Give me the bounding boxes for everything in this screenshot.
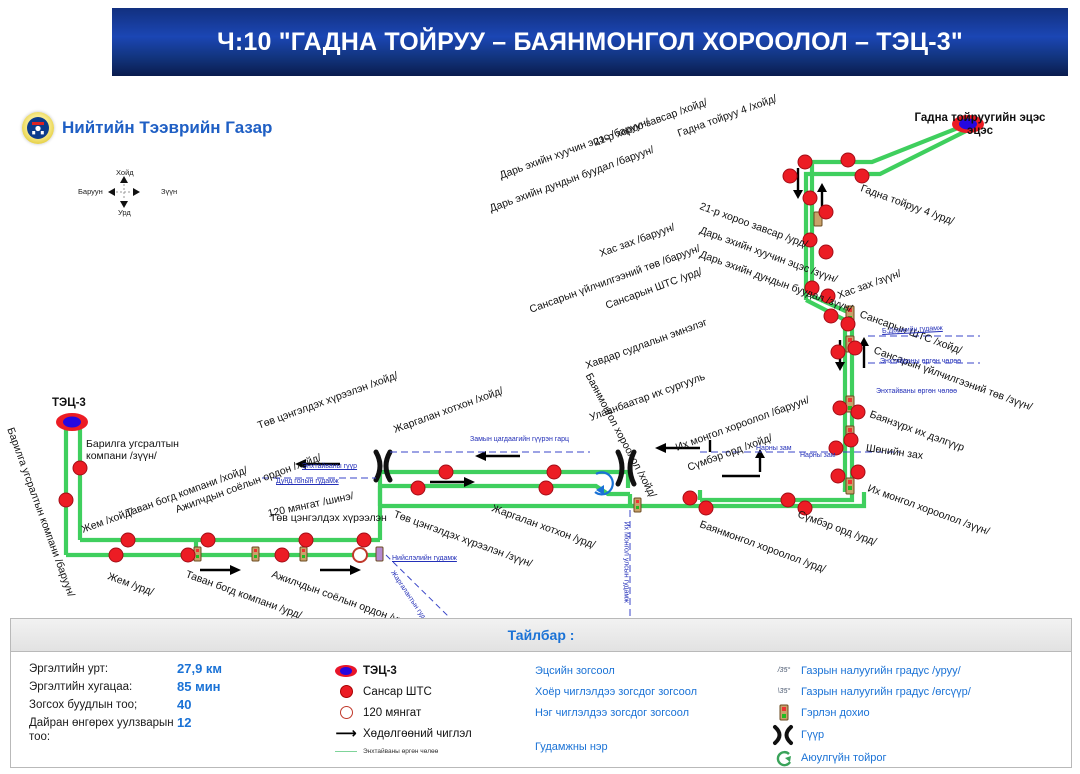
legend-item-label: Эцсийн зогсоол bbox=[535, 665, 615, 677]
slope-up-icon: \35° bbox=[767, 688, 801, 695]
legend-item: 120 мянгат bbox=[329, 702, 472, 723]
map-terminal-label-tec3: ТЭЦ-3 bbox=[52, 397, 86, 409]
legend-item-label: Гүүр bbox=[801, 729, 824, 741]
direction-arrow-icon: ⟶ bbox=[329, 728, 363, 739]
stat-value: 85 мин bbox=[177, 680, 221, 694]
legend-item-label: Гэрлэн дохио bbox=[801, 707, 870, 719]
legend-item-label: Гудамжны нэр bbox=[535, 741, 608, 753]
legend-item-label: ТЭЦ-3 bbox=[363, 665, 397, 677]
stat-label: Эргэлтийн урт: bbox=[29, 662, 177, 676]
legend-item: /35° Газрын налуугийн градус /уруу/ bbox=[767, 660, 971, 681]
map-terminal-label-gadna: Гадна тойруугийн эцэс эцэс bbox=[900, 112, 1060, 138]
legend-item-label: Сансар ШТС bbox=[363, 686, 432, 698]
legend-title: Тайлбар : bbox=[508, 627, 575, 643]
bridge-icon bbox=[767, 724, 801, 746]
legend-item-label: Газрын налуугийн градус /өгсүүр/ bbox=[801, 686, 971, 698]
terminal-marker-icon bbox=[329, 665, 363, 677]
legend-item: Гудамжны нэр bbox=[535, 723, 697, 753]
legend-symbol-column: ТЭЦ-3 Сансар ШТС 120 мянгат ⟶ Хөдөлгөөни… bbox=[329, 660, 472, 758]
legend-item: Энхтайваны өргөн чөлөө bbox=[329, 744, 472, 758]
legend-item-label: Газрын налуугийн градус /уруу/ bbox=[801, 665, 961, 677]
legend-item-label: Хоёр чиглэлдээ зогсдог зогсоол bbox=[535, 686, 697, 698]
slope-up-badge: \35° bbox=[778, 688, 791, 695]
page-title: Ч:10 "ГАДНА ТОЙРУУ – БАЯНМОНГОЛ ХОРООЛОЛ… bbox=[217, 28, 963, 57]
legend-item: ⟶ Хөдөлгөөний чиглэл bbox=[329, 723, 472, 744]
roundabout-icon bbox=[595, 472, 613, 495]
legend-panel: Тайлбар : Эргэлтийн урт: 27,9 км Эргэлти… bbox=[10, 618, 1072, 768]
stat-label: Зогсох буудлын тоо; bbox=[29, 698, 177, 712]
legend-body: Эргэлтийн урт: 27,9 км Эргэлтийн хугацаа… bbox=[11, 652, 1071, 766]
stat-value: 40 bbox=[177, 698, 191, 712]
legend-item: Аюулгүйн тойрог bbox=[767, 747, 971, 768]
page-title-banner: Ч:10 "ГАДНА ТОЙРУУ – БАЯНМОНГОЛ ХОРООЛОЛ… bbox=[112, 8, 1068, 76]
legend-item: Нэг чиглэлдээ зогсдог зогсоол bbox=[535, 702, 697, 723]
legend-stoptype-column: Эцсийн зогсоол Хоёр чиглэлдээ зогсдог зо… bbox=[535, 660, 697, 753]
stat-row: Дайран өнгөрөх уулзварын тоо: 12 bbox=[29, 716, 222, 744]
street-label: Их Монгол улсын гудамж bbox=[623, 522, 630, 603]
route-statistics: Эргэлтийн урт: 27,9 км Эргэлтийн хугацаа… bbox=[29, 662, 222, 748]
legend-item: Хоёр чиглэлдээ зогсдог зогсоол bbox=[535, 681, 697, 702]
legend-item-label: Аюулгүйн тойрог bbox=[801, 752, 886, 764]
stat-value: 27,9 км bbox=[177, 662, 222, 676]
legend-item: Гүүр bbox=[767, 723, 971, 747]
stat-row: Эргэлтийн урт: 27,9 км bbox=[29, 662, 222, 676]
roundabout-icon bbox=[767, 749, 801, 767]
stat-label: Эргэлтийн хугацаа: bbox=[29, 680, 177, 694]
traffic-light-icon bbox=[767, 704, 801, 721]
street-label: Нийслэлийн гудамж bbox=[392, 555, 457, 562]
legend-item: ТЭЦ-3 bbox=[329, 660, 472, 681]
stop-marker-icon bbox=[329, 685, 363, 698]
map-stop-label: Барилга угсралтын компани /зүүн/ bbox=[86, 438, 206, 462]
street-label: Нарны зам bbox=[756, 445, 792, 452]
legend-item: Сансар ШТС bbox=[329, 681, 472, 702]
street-label: Энхтайваны гүүр bbox=[302, 463, 357, 470]
legend-item: Эцсийн зогсоол bbox=[535, 660, 697, 681]
stat-label: Дайран өнгөрөх уулзварын тоо: bbox=[29, 716, 177, 744]
legend-item-label: Энхтайваны өргөн чөлөө bbox=[363, 748, 438, 755]
slope-down-badge: /35° bbox=[778, 667, 791, 674]
legend-item-label: Хөдөлгөөний чиглэл bbox=[363, 728, 472, 740]
legend-header: Тайлбар : bbox=[11, 619, 1071, 652]
legend-roadfeature-column: /35° Газрын налуугийн градус /уруу/ \35°… bbox=[767, 660, 971, 768]
legend-item-label: Нэг чиглэлдээ зогсдог зогсоол bbox=[535, 707, 689, 719]
open-stop-marker-icon bbox=[353, 548, 367, 562]
street-label: Замын цагдаагийн гүүрэн гарц bbox=[470, 436, 569, 443]
stat-row: Эргэлтийн хугацаа: 85 мин bbox=[29, 680, 222, 694]
slope-down-icon: /35° bbox=[767, 667, 801, 674]
street-label: Энхтайваны өргөн чөлөө bbox=[880, 358, 961, 365]
stat-row: Зогсох буудлын тоо; 40 bbox=[29, 698, 222, 712]
legend-item-label: 120 мянгат bbox=[363, 707, 421, 719]
street-label: Энхтайваны өргөн чөлөө bbox=[876, 388, 957, 395]
legend-item: \35° Газрын налуугийн градус /өгсүүр/ bbox=[767, 681, 971, 702]
street-line-icon bbox=[329, 751, 363, 752]
street-label: Дунд голын гудамж bbox=[276, 478, 339, 485]
route-map: Гадна тойруугийн эцэс эцэс ТЭЦ-3 Гадна т… bbox=[0, 100, 1080, 620]
open-stop-marker-icon bbox=[329, 706, 363, 719]
legend-item: Гэрлэн дохио bbox=[767, 702, 971, 723]
street-label: Нарны зам bbox=[800, 452, 836, 459]
stat-value: 12 bbox=[177, 716, 191, 730]
